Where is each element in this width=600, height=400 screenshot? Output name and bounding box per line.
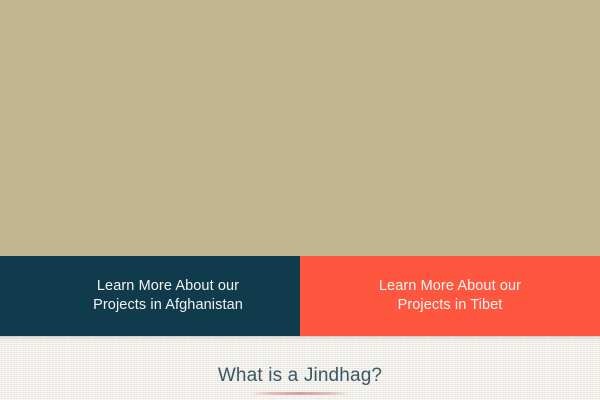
cta-panel-tibet-label: Learn More About our Projects in Tibet bbox=[379, 277, 521, 316]
heading-divider bbox=[250, 392, 350, 395]
cta-band: Learn More About our Projects in Afghani… bbox=[0, 256, 600, 336]
cta-panel-tibet[interactable]: Learn More About our Projects in Tibet bbox=[300, 256, 600, 336]
cta-panel-afghanistan-label: Learn More About our Projects in Afghani… bbox=[93, 277, 243, 316]
hero-banner bbox=[0, 0, 600, 256]
page-root: Learn More About our Projects in Afghani… bbox=[0, 0, 600, 400]
section-heading: What is a Jindhag? bbox=[0, 365, 600, 387]
cta-panel-afghanistan[interactable]: Learn More About our Projects in Afghani… bbox=[0, 256, 300, 336]
cta-band-shadow bbox=[0, 336, 600, 343]
